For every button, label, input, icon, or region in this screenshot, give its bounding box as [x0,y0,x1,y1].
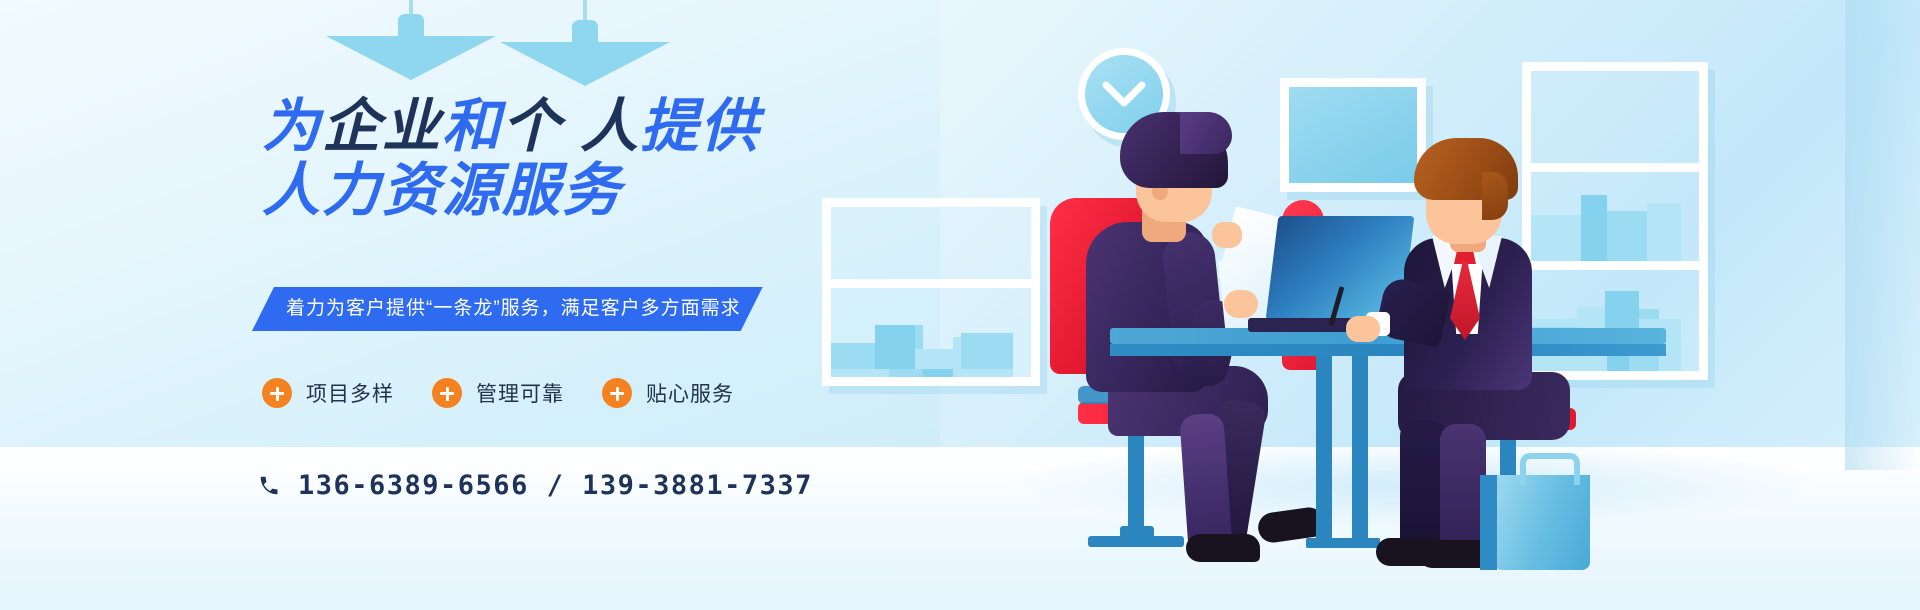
briefcase-handle [1520,453,1580,485]
phone-number: 136-6389-6566 / 139-3881-7337 [298,470,813,501]
briefcase [1494,475,1590,570]
office-chair-left-stem [1128,424,1144,536]
feature-item[interactable]: 管理可靠 [432,378,564,408]
desk-apron [1110,344,1666,356]
hero-banner: 为企业和个 人提供 人力资源服务 着力为客户提供“一条龙”服务，满足客户多方面需… [0,0,1920,610]
person-left-hand-upper [1212,222,1242,248]
desk-foot [1306,538,1380,548]
feature-item[interactable]: 项目多样 [262,378,394,408]
desk-leg-left [1316,356,1332,540]
person-left-hair-sweep [1180,112,1232,154]
phone-icon [258,475,280,497]
text-content: 为企业和个 人提供 人力资源服务 着力为客户提供“一条龙”服务，满足客户多方面需… [0,0,940,610]
clock-check-icon [1102,79,1146,109]
person-left-hand-lower [1224,290,1258,318]
person-right-hand [1346,316,1380,342]
headline-line-1: 为企业和个 人提供 [262,96,902,158]
desk-leg-right [1352,356,1368,540]
person-right-sideburn [1482,172,1508,220]
feature-label: 贴心服务 [646,378,734,408]
contact-row[interactable]: 136-6389-6566 / 139-3881-7337 [258,470,813,501]
feature-label: 管理可靠 [476,378,564,408]
headline-part-5: 提供 [640,94,760,159]
headline-part-3: 和 [442,94,502,159]
headline-part-2: 企业 [322,94,442,159]
plus-icon [262,378,292,408]
headline-line-2: 人力资源服务 [262,160,622,222]
headline-part-1: 为 [262,94,322,159]
headline-part-4: 个 人 [502,94,640,159]
picture-frame [1280,78,1426,192]
feature-list: 项目多样 管理可靠 贴心服务 [262,378,734,408]
feature-item[interactable]: 贴心服务 [602,378,734,408]
office-chair-left-base-cap [1120,526,1154,538]
wall-edge-shadow [1845,0,1920,470]
plus-icon [602,378,632,408]
subtitle-banner: 着力为客户提供“一条龙”服务，满足客户多方面需求 [252,287,763,331]
briefcase-side [1480,475,1497,570]
feature-label: 项目多样 [306,378,394,408]
plus-icon [432,378,462,408]
person-left-shoe-front [1186,534,1260,562]
